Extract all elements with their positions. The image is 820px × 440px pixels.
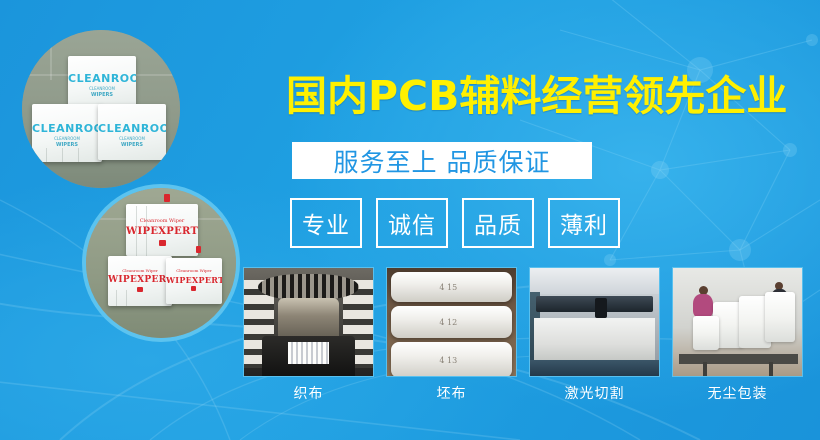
feature-tag-integrity: 诚信	[376, 198, 448, 248]
process-photo-strip: 织布 4 15 4 12 4 13 坯布 激光切割	[243, 267, 803, 403]
pack-sub-label: CLEANROOM	[98, 136, 166, 141]
pack-sub2-label: WIPERS	[32, 142, 102, 148]
pack-subbrand-label: Cleanroom Wiper	[166, 268, 222, 273]
subtitle-text: 服务至上 品质保证	[334, 143, 551, 179]
pack-sub2-label: WIPERS	[68, 92, 136, 98]
process-caption: 无尘包装	[672, 383, 803, 403]
feature-tag-label: 专业	[302, 206, 350, 240]
process-item-greige-fabric: 4 15 4 12 4 13 坯布	[386, 267, 517, 403]
feature-tag-label: 品质	[474, 206, 522, 240]
pack-brand-label: CLEANROOM	[32, 122, 102, 135]
banner-headline: 国内PCB辅料经营领先企业	[286, 72, 786, 120]
pack-sub2-label: WIPERS	[98, 142, 166, 148]
product-photo-cleanroom-wipes: CLEANROOM CLEANROOM WIPERS CLEANROOM CLE…	[22, 30, 180, 188]
process-item-cleanroom-packaging: 无尘包装	[672, 267, 803, 403]
fabric-rolls-photo: 4 15 4 12 4 13	[386, 267, 517, 377]
process-item-weaving: 织布	[243, 267, 374, 403]
laser-cutter-photo	[529, 267, 660, 377]
pack-brand-label: WIPEXPERTS	[166, 275, 222, 285]
process-caption: 坯布	[386, 383, 517, 403]
pack-brand-label: WIPEXPERTS	[108, 275, 172, 285]
feature-tag-label: 薄利	[560, 206, 608, 240]
subtitle-box: 服务至上 品质保证	[292, 142, 592, 179]
pack-sub-label: CLEANROOM	[32, 136, 102, 141]
feature-tag-low-margin: 薄利	[548, 198, 620, 248]
feature-tag-list: 专业 诚信 品质 薄利	[290, 198, 620, 248]
knitting-machine-photo	[243, 267, 374, 377]
pack-brand-label: CLEANROOM	[98, 122, 166, 135]
pack-sub-label: CLEANROOM	[68, 86, 136, 91]
cleanroom-packaging-photo	[672, 267, 803, 377]
feature-tag-label: 诚信	[388, 206, 436, 240]
feature-tag-professional: 专业	[290, 198, 362, 248]
process-caption: 激光切割	[529, 383, 660, 403]
feature-tag-quality: 品质	[462, 198, 534, 248]
promo-banner: CLEANROOM CLEANROOM WIPERS CLEANROOM CLE…	[0, 0, 820, 440]
pack-subbrand-label: Cleanroom Wiper	[108, 268, 172, 273]
pack-brand-label: CLEANROOM	[68, 72, 136, 85]
process-item-laser-cutting: 激光切割	[529, 267, 660, 403]
product-photo-wipexperts: Cleanroom Wiper WIPEXPERTS Cleanroom Wip…	[86, 188, 236, 338]
process-caption: 织布	[243, 383, 374, 403]
